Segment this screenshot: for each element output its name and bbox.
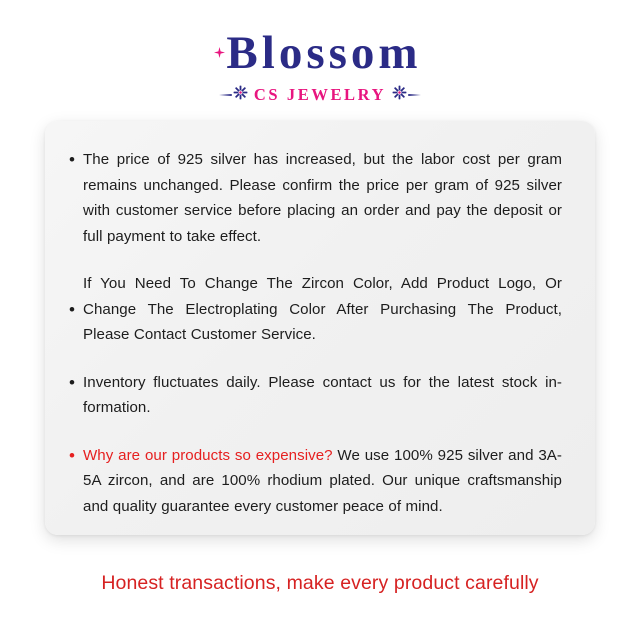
brand-wordmark-text: Blossom [226,27,421,79]
ornament-dash-left [219,94,232,96]
brand-header: Blossom CS JEWELRY [0,0,640,104]
ornament-dash-right [408,94,421,96]
notice-text-customization: If You Need To Change The Zircon Color, … [83,271,562,348]
brand-wordmark: Blossom [218,30,421,77]
notice-item-pricing-rationale: • Why are our products so expensive? We … [69,443,562,520]
ornament-star-left [233,85,248,105]
notice-text-price: The price of 925 silver has increased, b… [83,147,562,249]
snowflake-ornament-icon-right [392,85,421,105]
notice-item-inventory: • Inventory fluctuates daily. Please con… [69,370,562,421]
footer-tagline: Honest transactions, make every product … [0,570,640,596]
snowflake-ornament-icon-left [219,85,248,105]
notice-item-price: • The price of 925 silver has increased,… [69,147,562,249]
ornament-star-right [392,85,407,105]
notice-text-pricing-rationale: Why are our products so expensive? We us… [83,443,562,520]
bullet-icon: • [69,147,83,173]
bullet-icon: • [69,443,83,469]
brand-subline: CS JEWELRY [0,86,640,104]
bullet-icon: • [69,370,83,396]
bullet-icon: • [69,302,83,316]
brand-subtitle: CS JEWELRY [254,87,386,104]
diamond-sparkle-icon [214,47,225,58]
notice-highlight-question: Why are our products so expensive? [83,447,333,464]
notice-list: • The price of 925 silver has increased,… [69,147,562,519]
notice-item-customization: • If You Need To Change The Zircon Color… [69,271,562,348]
notice-card: • The price of 925 silver has increased,… [45,121,595,535]
notice-text-inventory: Inventory fluctuates daily. Please conta… [83,370,562,421]
